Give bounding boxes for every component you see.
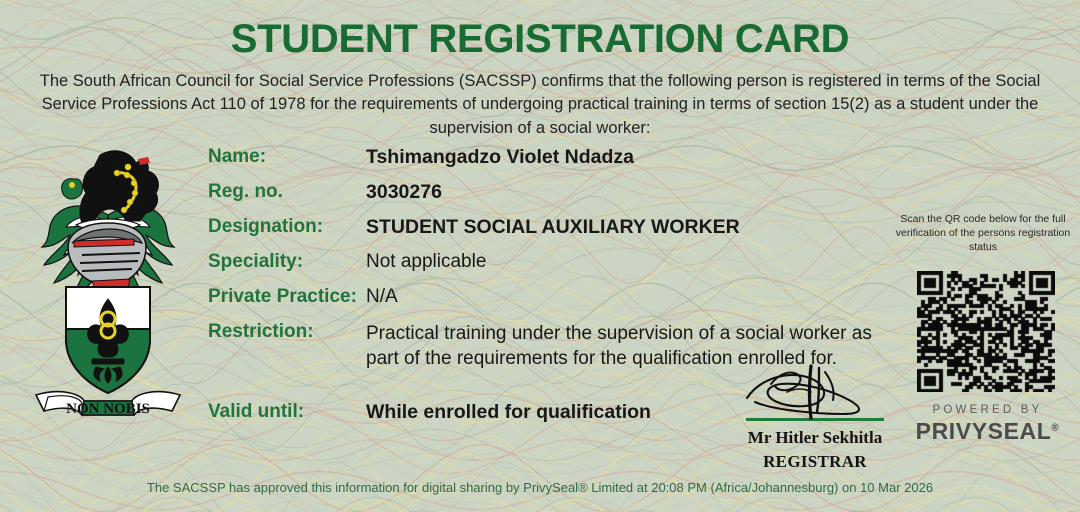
registered-trademark-icon: ®: [1051, 422, 1059, 433]
field-value-speciality: Not applicable: [366, 251, 486, 273]
privyseal-wordmark: PRIVYSEAL®: [905, 418, 1070, 444]
privyseal-wordmark-text: PRIVYSEAL: [916, 418, 1052, 444]
approval-footer: The SACSSP has approved this information…: [0, 480, 1080, 495]
field-row-private-practice: Private Practice: N/A: [208, 286, 908, 321]
field-row-name: Name: Tshimangadzo Violet Ndadza: [208, 146, 908, 181]
field-label-reg-no: Reg. no.: [208, 181, 283, 203]
privyseal-brand: POWERED BY PRIVYSEAL®: [905, 404, 1070, 444]
signature-rule: [746, 418, 884, 421]
field-value-name: Tshimangadzo Violet Ndadza: [366, 146, 634, 169]
signatory-role: REGISTRAR: [700, 452, 930, 472]
signature-block: Mr Hitler Sekhitla REGISTRAR: [700, 362, 930, 472]
field-label-private-practice: Private Practice:: [208, 286, 357, 308]
field-row-speciality: Speciality: Not applicable: [208, 251, 908, 286]
field-label-speciality: Speciality:: [208, 251, 303, 273]
emblem-motto-text: NON NOBIS: [66, 401, 150, 417]
signatory-name: Mr Hitler Sekhitla: [700, 428, 930, 448]
page-title: STUDENT REGISTRATION CARD: [0, 18, 1080, 60]
student-registration-card: STUDENT REGISTRATION CARD The South Afri…: [0, 0, 1080, 512]
field-label-restriction: Restriction:: [208, 321, 314, 343]
field-row-designation: Designation: STUDENT SOCIAL AUXILIARY WO…: [208, 216, 908, 251]
field-row-reg-no: Reg. no. 3030276: [208, 181, 908, 216]
handwritten-signature-icon: [725, 362, 905, 420]
field-value-valid-until: While enrolled for qualification: [366, 401, 651, 424]
qr-code-icon[interactable]: [917, 271, 1055, 392]
field-label-name: Name:: [208, 146, 266, 168]
field-label-designation: Designation:: [208, 216, 323, 238]
field-label-valid-until: Valid until:: [208, 401, 304, 423]
field-value-reg-no: 3030276: [366, 181, 442, 204]
sacssp-coat-of-arms-icon: NON NOBIS: [22, 143, 194, 418]
field-value-designation: STUDENT SOCIAL AUXILIARY WORKER: [366, 216, 740, 239]
intro-paragraph: The South African Council for Social Ser…: [32, 70, 1048, 140]
powered-by-label: POWERED BY: [905, 404, 1070, 417]
field-value-private-practice: N/A: [366, 286, 398, 308]
qr-instruction-text: Scan the QR code below for the full veri…: [893, 213, 1073, 255]
